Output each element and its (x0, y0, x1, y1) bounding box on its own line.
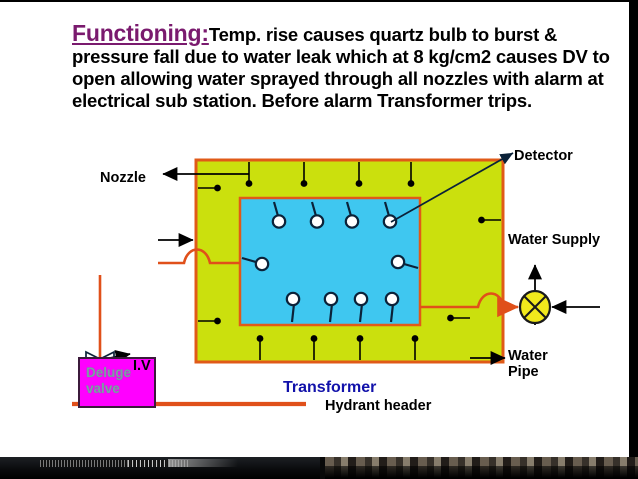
headline-keyword: Functioning: (72, 20, 209, 46)
deluge-valve-label-line1: Deluge (86, 365, 131, 380)
slide-canvas: Functioning:Temp. rise causes quartz bul… (0, 0, 638, 479)
page-title: Functioning:Temp. rise causes quartz bul… (72, 22, 617, 112)
bottom-photo-right (325, 457, 638, 479)
fire-protection-diagram: Deluge valve Nozzle Detector Water Suppl… (0, 140, 638, 430)
label-isolation-valve: I.V (133, 358, 151, 374)
label-detector: Detector (514, 148, 573, 164)
bottom-photo-strip (0, 457, 638, 479)
bottom-photo-left (0, 457, 320, 479)
label-water-supply: Water Supply (508, 232, 600, 248)
deluge-valve-label-line2: valve (86, 381, 120, 396)
top-border-line (0, 0, 638, 2)
label-water-pipe-line1: Water (508, 348, 548, 364)
photo-texture-sheen (168, 459, 238, 467)
photo-texture-grill-2 (128, 460, 168, 467)
label-nozzle: Nozzle (100, 170, 146, 186)
label-hydrant-header: Hydrant header (325, 398, 431, 414)
label-water-pipe-line2: Pipe (508, 364, 539, 380)
label-water-pipe: Water Pipe (508, 348, 548, 380)
label-transformer: Transformer (283, 379, 376, 397)
